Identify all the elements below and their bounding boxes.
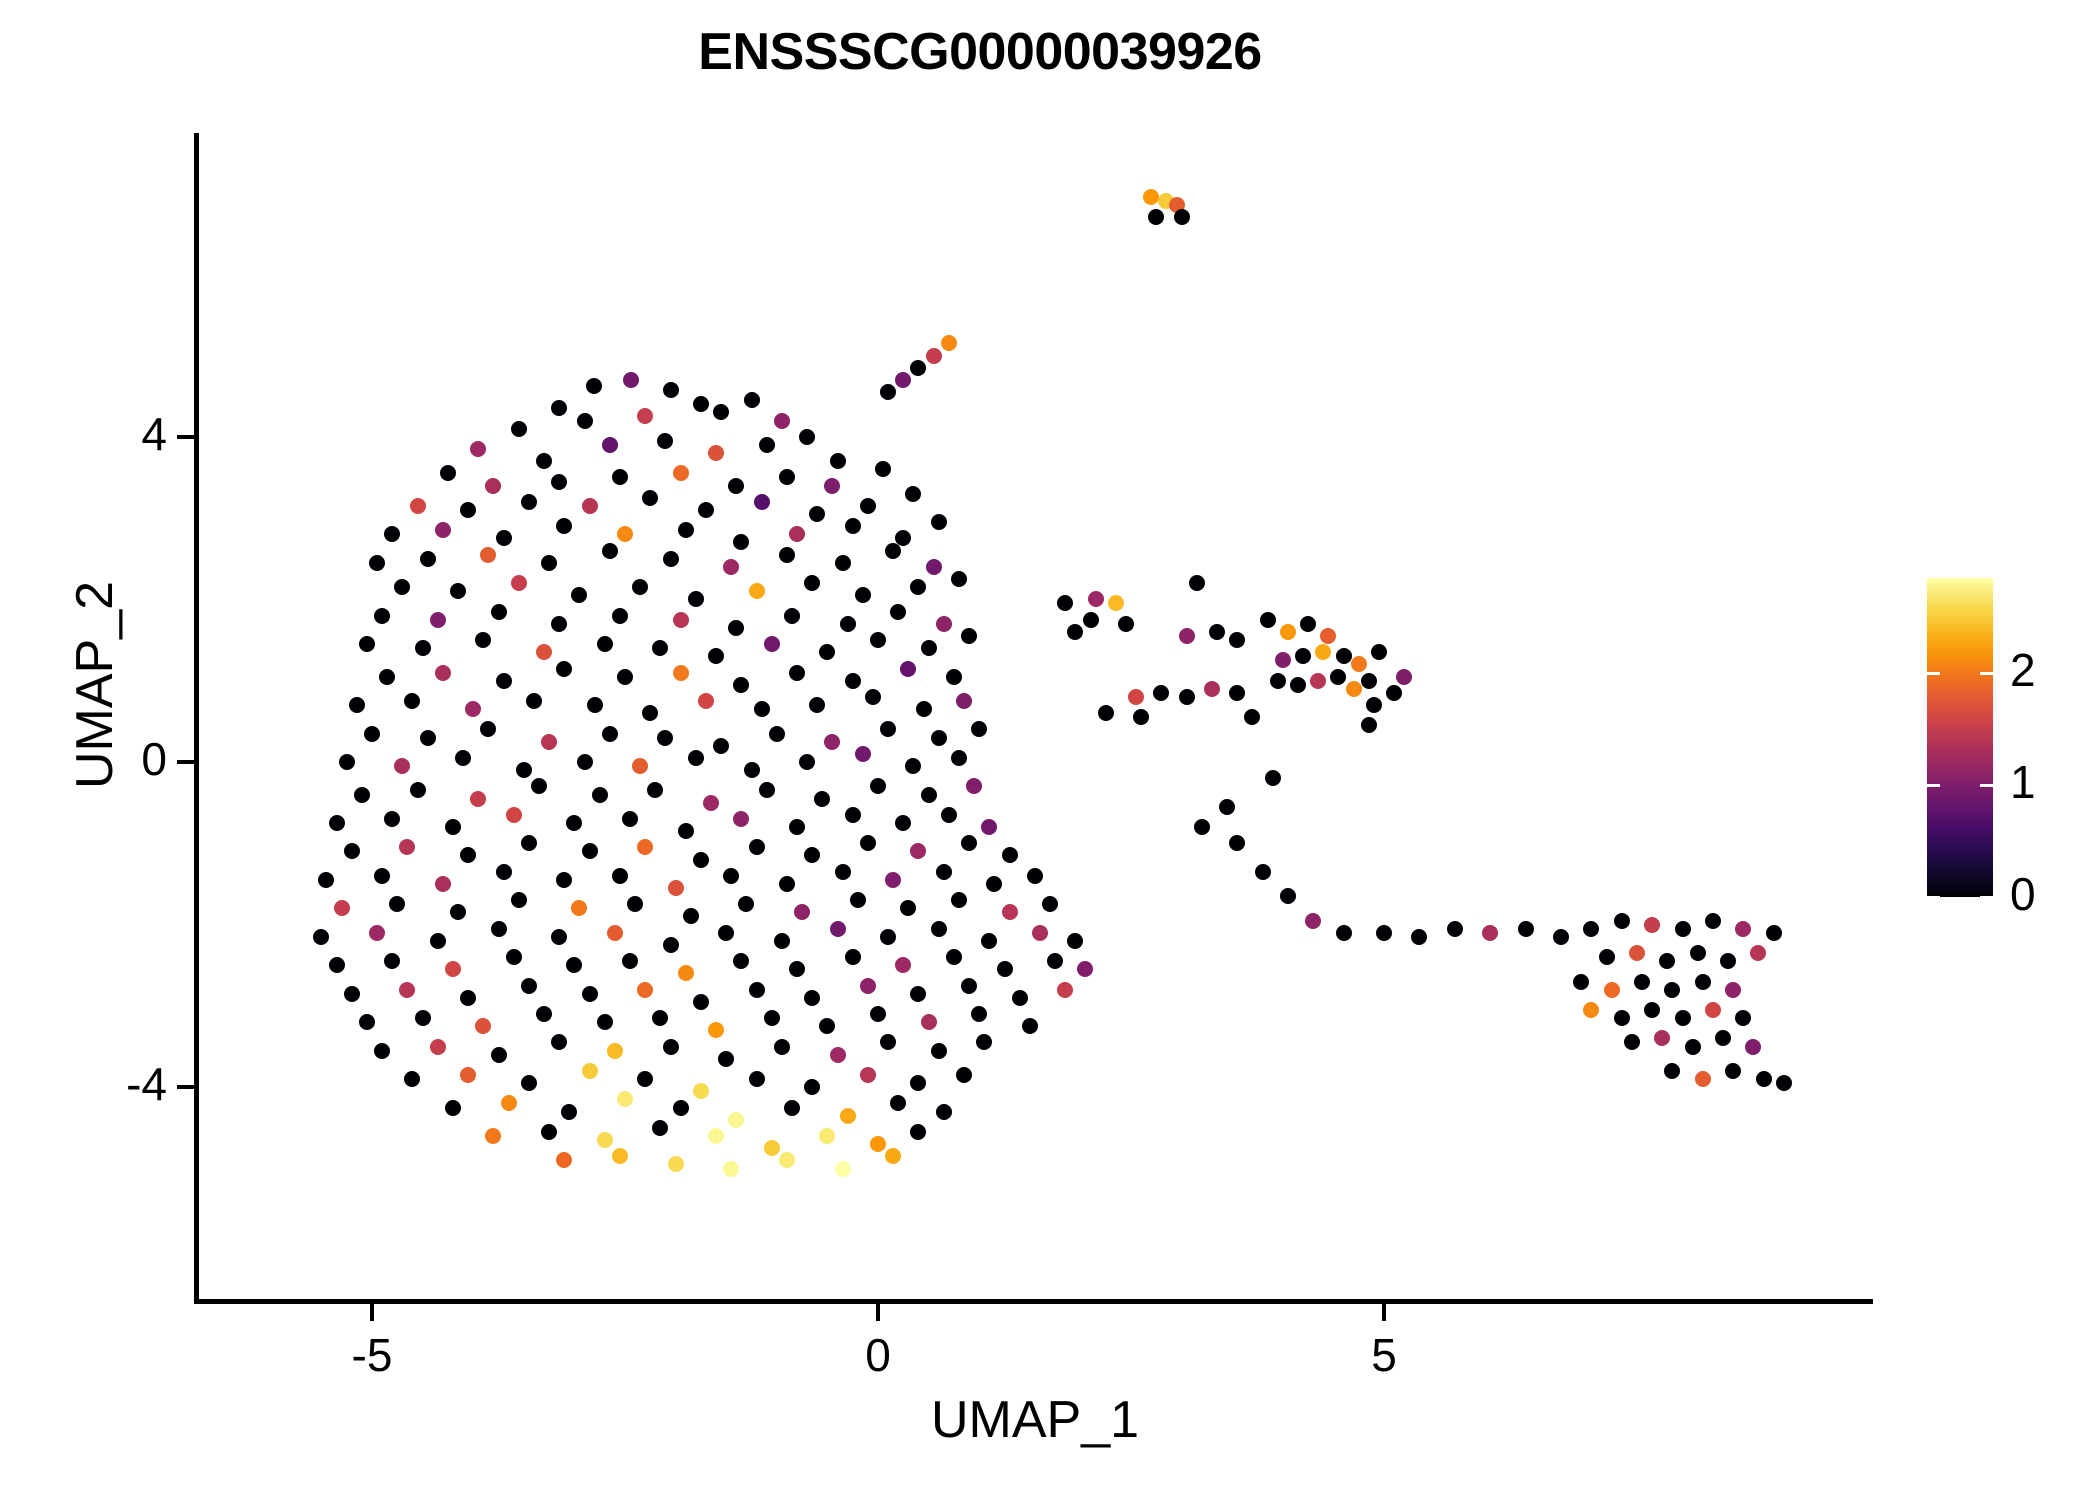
y-axis-line: [194, 133, 199, 1304]
scatter-point: [723, 559, 739, 575]
scatter-point: [556, 661, 572, 677]
scatter-point: [1244, 709, 1260, 725]
scatter-point: [971, 1006, 987, 1022]
scatter-point: [1685, 1039, 1701, 1055]
scatter-point: [1118, 616, 1134, 632]
scatter-point: [612, 1148, 628, 1164]
x-axis-label: UMAP_1: [197, 1390, 1873, 1450]
scatter-point: [541, 1124, 557, 1140]
scatter-point: [511, 421, 527, 437]
scatter-point: [835, 555, 851, 571]
scatter-point: [1275, 652, 1291, 668]
scatter-point: [1032, 925, 1048, 941]
scatter-point: [663, 1039, 679, 1055]
scatter-point: [556, 518, 572, 534]
scatter-point: [384, 953, 400, 969]
scatter-point: [587, 697, 603, 713]
scatter-point: [496, 530, 512, 546]
scatter-point: [1411, 929, 1427, 945]
scatter-point: [931, 730, 947, 746]
scatter-point: [1376, 925, 1392, 941]
scatter-point: [946, 669, 962, 685]
scatter-point: [819, 1128, 835, 1144]
scatter-point: [835, 1161, 851, 1177]
scatter-point: [329, 815, 345, 831]
scatter-point: [764, 636, 780, 652]
scatter-point: [966, 778, 982, 794]
scatter-point: [496, 864, 512, 880]
scatter-point: [749, 583, 765, 599]
scatter-point: [617, 1091, 633, 1107]
scatter-point: [1204, 681, 1220, 697]
y-tick-mark: [177, 760, 194, 764]
scatter-point: [683, 908, 699, 924]
scatter-point: [941, 335, 957, 351]
scatter-point: [1083, 612, 1099, 628]
scatter-point: [344, 843, 360, 859]
scatter-point: [475, 1018, 491, 1034]
scatter-point: [885, 543, 901, 559]
scatter-point: [1644, 1002, 1660, 1018]
scatter-point: [1098, 705, 1114, 721]
scatter-point: [870, 632, 886, 648]
scatter-point: [1067, 933, 1083, 949]
scatter-point: [870, 1136, 886, 1152]
scatter-point: [359, 636, 375, 652]
scatter-point: [460, 990, 476, 1006]
scatter-point: [1735, 921, 1751, 937]
scatter-point: [804, 575, 820, 591]
scatter-point: [354, 787, 370, 803]
scatter-point: [637, 982, 653, 998]
scatter-point: [460, 502, 476, 518]
scatter-point: [880, 929, 896, 945]
colorbar-tick-label: 0: [2010, 867, 2036, 921]
scatter-point: [586, 378, 602, 394]
scatter-point: [855, 587, 871, 603]
scatter-point: [819, 644, 835, 660]
scatter-point: [622, 811, 638, 827]
scatter-point: [789, 819, 805, 835]
scatter-point: [1553, 929, 1569, 945]
scatter-point: [1128, 689, 1144, 705]
scatter-point: [491, 1047, 507, 1063]
colorbar-tick-label: 1: [2010, 755, 2036, 809]
scatter-point: [1330, 669, 1346, 685]
scatter-point: [809, 697, 825, 713]
scatter-point: [698, 693, 714, 709]
scatter-point: [1265, 770, 1281, 786]
scatter-point: [678, 522, 694, 538]
scatter-point: [1219, 799, 1235, 815]
scatter-point: [566, 957, 582, 973]
scatter-point: [379, 669, 395, 685]
scatter-point: [511, 575, 527, 591]
scatter-point: [880, 721, 896, 737]
scatter-point: [1756, 1071, 1772, 1087]
scatter-point: [612, 608, 628, 624]
scatter-point: [1290, 677, 1306, 693]
scatter-point: [1371, 644, 1387, 660]
x-tick-mark: [876, 1304, 880, 1321]
scatter-point: [1088, 591, 1104, 607]
scatter-point: [956, 693, 972, 709]
scatter-point: [733, 677, 749, 693]
scatter-point: [1012, 990, 1028, 1006]
scatter-point: [663, 551, 679, 567]
scatter-point: [774, 413, 790, 429]
scatter-point: [1664, 1063, 1680, 1079]
scatter-point: [415, 640, 431, 656]
scatter-point: [450, 583, 466, 599]
scatter-point: [708, 1022, 724, 1038]
page-title: ENSSSCG00000039926: [0, 22, 1960, 82]
scatter-point: [496, 673, 512, 689]
scatter-point: [1336, 925, 1352, 941]
scatter-point: [430, 612, 446, 628]
scatter-point: [779, 876, 795, 892]
scatter-point: [1690, 945, 1706, 961]
scatter-point: [1270, 673, 1286, 689]
scatter-point: [420, 730, 436, 746]
scatter-point: [921, 640, 937, 656]
scatter-point: [926, 559, 942, 575]
scatter-point: [910, 843, 926, 859]
scatter-point: [693, 396, 709, 412]
scatter-point: [440, 465, 456, 481]
scatter-point: [617, 669, 633, 685]
scatter-point: [1614, 913, 1630, 929]
scatter-point: [652, 1010, 668, 1026]
scatter-point: [880, 1034, 896, 1050]
scatter-point: [936, 864, 952, 880]
x-axis-line: [194, 1299, 1873, 1304]
scatter-point: [759, 437, 775, 453]
scatter-point: [951, 571, 967, 587]
scatter-point: [1675, 921, 1691, 937]
scatter-point: [1189, 575, 1205, 591]
scatter-point: [910, 360, 926, 376]
scatter-point: [910, 579, 926, 595]
scatter-point: [830, 921, 846, 937]
scatter-point: [602, 726, 618, 742]
scatter-point: [541, 734, 557, 750]
y-tick-mark: [177, 1085, 194, 1089]
scatter-point: [916, 701, 932, 717]
scatter-point: [420, 551, 436, 567]
scatter-point: [551, 400, 567, 416]
scatter-point: [374, 868, 390, 884]
scatter-point: [1179, 628, 1195, 644]
scatter-point: [622, 953, 638, 969]
scatter-point: [1260, 612, 1276, 628]
scatter-point: [369, 925, 385, 941]
scatter-point: [931, 1043, 947, 1059]
scatter-point: [1042, 896, 1058, 912]
scatter-point: [1396, 669, 1412, 685]
scatter-point: [744, 762, 760, 778]
scatter-point: [1305, 913, 1321, 929]
scatter-point: [708, 445, 724, 461]
scatter-point: [536, 644, 552, 660]
scatter-point: [526, 693, 542, 709]
scatter-point: [374, 1043, 390, 1059]
scatter-point: [926, 348, 942, 364]
y-axis-label: UMAP_2: [65, 335, 125, 1035]
colorbar-tick-mark: [1980, 784, 1993, 787]
scatter-point: [1664, 982, 1680, 998]
scatter-point: [845, 518, 861, 534]
scatter-point: [814, 791, 830, 807]
scatter-point: [551, 1034, 567, 1050]
scatter-point: [1361, 673, 1377, 689]
scatter-point: [1695, 1071, 1711, 1087]
scatter-point: [435, 665, 451, 681]
scatter-point: [623, 372, 639, 388]
scatter-point: [774, 933, 790, 949]
scatter-point: [1695, 974, 1711, 990]
scatter-point: [597, 636, 613, 652]
scatter-point: [485, 478, 501, 494]
scatter-point: [895, 372, 911, 388]
plot-panel: [197, 135, 1873, 1302]
scatter-point: [754, 701, 770, 717]
scatter-point: [718, 1051, 734, 1067]
scatter-point: [713, 404, 729, 420]
scatter-point: [900, 661, 916, 677]
scatter-point: [612, 469, 628, 485]
scatter-point: [1675, 1010, 1691, 1026]
colorbar-tick-mark: [1927, 672, 1940, 675]
scatter-point: [1583, 1002, 1599, 1018]
scatter-point: [415, 1010, 431, 1026]
scatter-point: [652, 1120, 668, 1136]
scatter-point: [910, 986, 926, 1002]
scatter-point: [506, 807, 522, 823]
scatter-point: [799, 754, 815, 770]
scatter-point: [394, 579, 410, 595]
scatter-point: [389, 896, 405, 912]
scatter-point: [809, 506, 825, 522]
scatter-point: [845, 807, 861, 823]
scatter-point: [470, 791, 486, 807]
scatter-point: [1447, 921, 1463, 937]
scatter-point: [673, 465, 689, 481]
scatter-point: [961, 978, 977, 994]
scatter-point: [1346, 681, 1362, 697]
scatter-point: [693, 852, 709, 868]
scatter-point: [749, 839, 765, 855]
scatter-point: [1108, 595, 1124, 611]
scatter-point: [541, 555, 557, 571]
scatter-point: [521, 835, 537, 851]
scatter-point: [997, 961, 1013, 977]
scatter-point: [1573, 974, 1589, 990]
scatter-point: [435, 876, 451, 892]
scatter-point: [501, 1095, 517, 1111]
scatter-point: [1300, 616, 1316, 632]
scatter-point: [1133, 709, 1149, 725]
scatter-point: [1320, 628, 1336, 644]
scatter-point: [1654, 1030, 1670, 1046]
scatter-point: [435, 522, 451, 538]
scatter-point: [789, 665, 805, 681]
scatter-point: [1310, 673, 1326, 689]
scatter-point: [733, 534, 749, 550]
scatter-point: [759, 782, 775, 798]
scatter-point: [723, 1161, 739, 1177]
scatter-point: [1229, 835, 1245, 851]
scatter-point: [521, 494, 537, 510]
scatter-point: [364, 726, 380, 742]
scatter-point: [475, 632, 491, 648]
scatter-point: [536, 453, 552, 469]
scatter-point: [1745, 1039, 1761, 1055]
scatter-point: [688, 591, 704, 607]
scatter-point: [1351, 656, 1367, 672]
scatter-point: [921, 787, 937, 803]
colorbar-tick-mark: [1980, 896, 1993, 899]
scatter-point: [1002, 904, 1018, 920]
scatter-point: [642, 705, 658, 721]
scatter-point: [688, 750, 704, 766]
scatter-point: [632, 579, 648, 595]
scatter-point: [1705, 913, 1721, 929]
scatter-point: [951, 750, 967, 766]
scatter-point: [612, 868, 628, 884]
scatter-point: [430, 1039, 446, 1055]
scatter-point: [1366, 697, 1382, 713]
scatter-point: [779, 469, 795, 485]
scatter-point: [784, 1100, 800, 1116]
scatter-point: [1336, 648, 1352, 664]
scatter-point: [1047, 953, 1063, 969]
scatter-point: [561, 1104, 577, 1120]
scatter-point: [485, 1128, 501, 1144]
scatter-point: [1057, 982, 1073, 998]
scatter-point: [1280, 888, 1296, 904]
colorbar-tick-mark: [1927, 896, 1940, 899]
scatter-point: [602, 543, 618, 559]
scatter-point: [875, 461, 891, 477]
scatter-point: [845, 673, 861, 689]
scatter-point: [1766, 925, 1782, 941]
scatter-point: [905, 758, 921, 774]
colorbar-gradient: [1927, 578, 1993, 897]
scatter-point: [804, 990, 820, 1006]
scatter-point: [890, 1095, 906, 1111]
scatter-point: [794, 904, 810, 920]
scatter-point: [455, 750, 471, 766]
scatter-point: [1077, 961, 1093, 977]
scatter-point: [764, 1010, 780, 1026]
scatter-point: [531, 778, 547, 794]
y-tick-label: -4: [47, 1057, 167, 1111]
scatter-point: [1624, 1034, 1640, 1050]
scatter-point: [764, 1140, 780, 1156]
scatter-point: [774, 1039, 790, 1055]
scatter-point: [597, 1014, 613, 1030]
x-tick-label: -5: [292, 1328, 452, 1382]
scatter-point: [673, 612, 689, 628]
scatter-point: [749, 1071, 765, 1087]
umap-scatter-plot: ENSSSCG00000039926 -505 40-4 UMAP_1 UMAP…: [0, 0, 2100, 1500]
scatter-point: [885, 1148, 901, 1164]
scatter-point: [506, 949, 522, 965]
scatter-point: [369, 555, 385, 571]
scatter-point: [582, 986, 598, 1002]
scatter-point: [981, 819, 997, 835]
scatter-point: [657, 433, 673, 449]
scatter-point: [551, 474, 567, 490]
scatter-point: [749, 982, 765, 998]
scatter-point: [491, 921, 507, 937]
scatter-point: [551, 616, 567, 632]
scatter-point: [1067, 624, 1083, 640]
scatter-point: [1518, 921, 1534, 937]
scatter-point: [577, 754, 593, 770]
scatter-point: [480, 721, 496, 737]
scatter-point: [1720, 953, 1736, 969]
scatter-point: [339, 754, 355, 770]
scatter-point: [855, 746, 871, 762]
scatter-point: [693, 994, 709, 1010]
scatter-point: [910, 1124, 926, 1140]
scatter-point: [819, 1018, 835, 1034]
scatter-point: [577, 413, 593, 429]
scatter-point: [769, 726, 785, 742]
scatter-point: [384, 811, 400, 827]
colorbar-tick-mark: [1927, 784, 1940, 787]
scatter-point: [1315, 644, 1331, 660]
scatter-point: [536, 1006, 552, 1022]
scatter-point: [318, 872, 334, 888]
scatter-point: [840, 616, 856, 632]
scatter-point: [521, 1075, 537, 1091]
scatter-point: [1022, 1018, 1038, 1034]
scatter-point: [956, 1067, 972, 1083]
scatter-point: [313, 929, 329, 945]
scatter-point: [754, 494, 770, 510]
scatter-point: [1583, 921, 1599, 937]
scatter-point: [1280, 624, 1296, 640]
scatter-point: [668, 880, 684, 896]
scatter-point: [349, 697, 365, 713]
scatter-point: [460, 847, 476, 863]
scatter-point: [445, 1100, 461, 1116]
scatter-point: [779, 1152, 795, 1168]
scatter-point: [516, 762, 532, 778]
scatter-point: [981, 933, 997, 949]
scatter-point: [885, 872, 901, 888]
scatter-point: [733, 953, 749, 969]
scatter-point: [941, 807, 957, 823]
scatter-point: [860, 498, 876, 514]
scatter-point: [840, 1108, 856, 1124]
scatter-point: [789, 526, 805, 542]
scatter-point: [976, 1034, 992, 1050]
scatter-point: [1644, 917, 1660, 933]
scatter-point: [592, 787, 608, 803]
scatter-point: [693, 1083, 709, 1099]
scatter-point: [491, 604, 507, 620]
colorbar-tick-mark: [1980, 672, 1993, 675]
scatter-point: [404, 1071, 420, 1087]
scatter-point: [835, 864, 851, 880]
scatter-point: [556, 872, 572, 888]
scatter-point: [1386, 685, 1402, 701]
scatter-point: [986, 876, 1002, 892]
